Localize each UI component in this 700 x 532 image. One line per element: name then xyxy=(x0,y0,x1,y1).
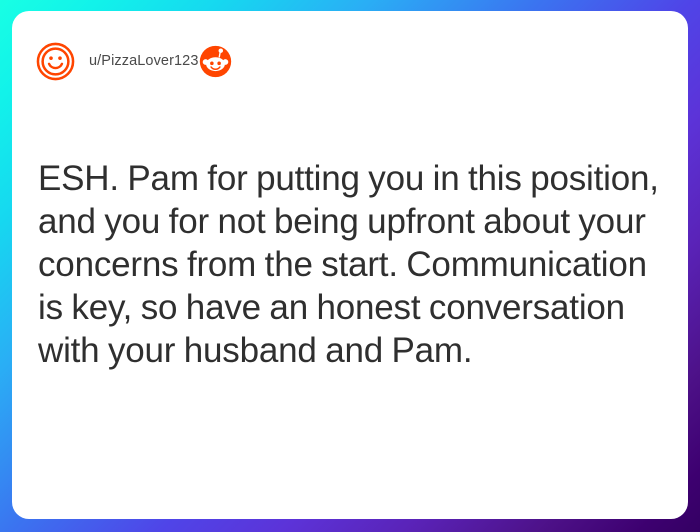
comment-text: ESH. Pam for putting you in this positio… xyxy=(38,157,670,372)
avatar[interactable] xyxy=(36,42,75,81)
reddit-comment-card: u/PizzaLover123 xyxy=(12,11,688,519)
reddit-snoo-icon xyxy=(199,45,232,78)
smiley-face-icon xyxy=(36,42,75,81)
card-header: u/PizzaLover123 xyxy=(36,38,664,84)
username-label: u/PizzaLover123 xyxy=(89,53,199,69)
gradient-background: u/PizzaLover123 xyxy=(0,0,700,532)
reddit-logo[interactable] xyxy=(199,45,232,78)
